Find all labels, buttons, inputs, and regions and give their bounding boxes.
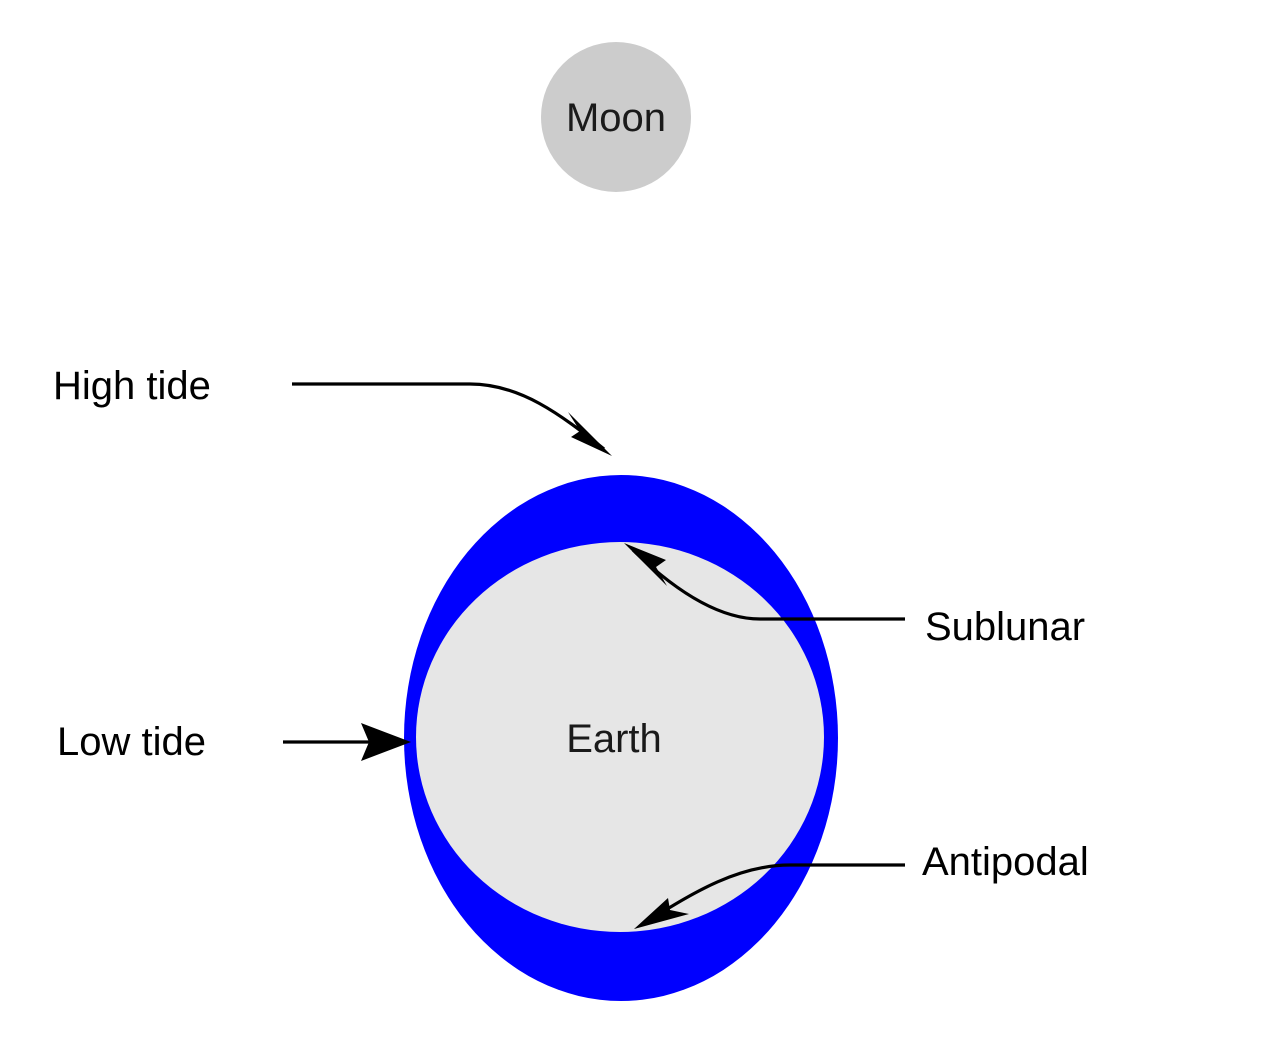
- low-tide-annotation: Low tide: [57, 720, 411, 764]
- high-tide-leader-line: [292, 384, 604, 449]
- antipodal-label: Antipodal: [922, 840, 1089, 884]
- high-tide-arrowhead-icon: [568, 412, 612, 456]
- low-tide-label: Low tide: [57, 720, 206, 764]
- earth-label: Earth: [566, 717, 662, 761]
- high-tide-label: High tide: [53, 364, 211, 408]
- moon-label: Moon: [566, 96, 666, 140]
- tidal-bulge-diagram: Moon Earth High tide Low tide Sublunar: [0, 0, 1278, 1054]
- diagram-canvas: Moon Earth High tide Low tide Sublunar: [0, 0, 1278, 1054]
- high-tide-annotation: High tide: [53, 364, 612, 456]
- sublunar-label: Sublunar: [925, 605, 1085, 649]
